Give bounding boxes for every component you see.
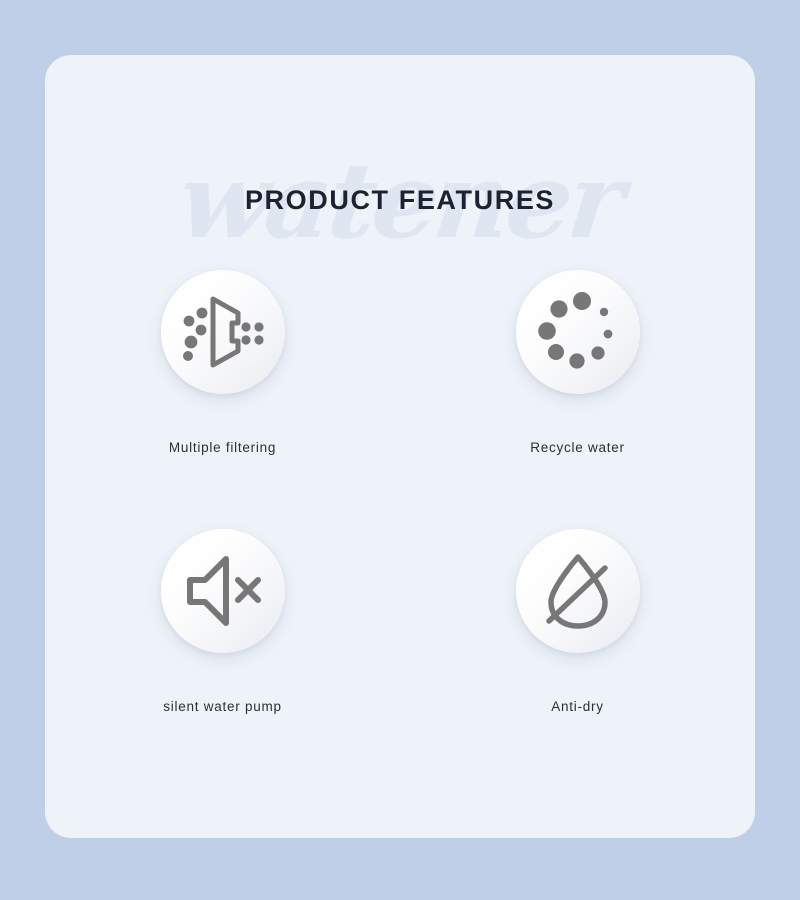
feature-label: Anti-dry xyxy=(551,699,604,714)
feature-item-multiple-filtering[interactable]: Multiple filtering xyxy=(45,270,400,529)
icon-circle xyxy=(516,529,640,653)
no-water-drop-icon xyxy=(535,548,621,634)
recycle-water-spinner-icon xyxy=(535,289,621,375)
icon-circle xyxy=(516,270,640,394)
feature-label: Recycle water xyxy=(530,440,625,455)
feature-label: silent water pump xyxy=(163,699,282,714)
multi-filter-membrane-icon xyxy=(180,289,266,375)
feature-label: Multiple filtering xyxy=(169,440,276,455)
icon-circle xyxy=(161,529,285,653)
features-card: watener PRODUCT FEATURES xyxy=(45,55,755,838)
feature-item-silent-water-pump[interactable]: silent water pump xyxy=(45,529,400,788)
feature-item-recycle-water[interactable]: Recycle water xyxy=(400,270,755,529)
features-grid: Multiple filtering xyxy=(45,270,755,788)
muted-speaker-icon xyxy=(180,548,266,634)
icon-circle xyxy=(161,270,285,394)
feature-item-anti-dry[interactable]: Anti-dry xyxy=(400,529,755,788)
page-title: PRODUCT FEATURES xyxy=(45,140,755,260)
card-header: watener PRODUCT FEATURES xyxy=(45,140,755,260)
product-features-page: watener PRODUCT FEATURES xyxy=(0,0,800,900)
